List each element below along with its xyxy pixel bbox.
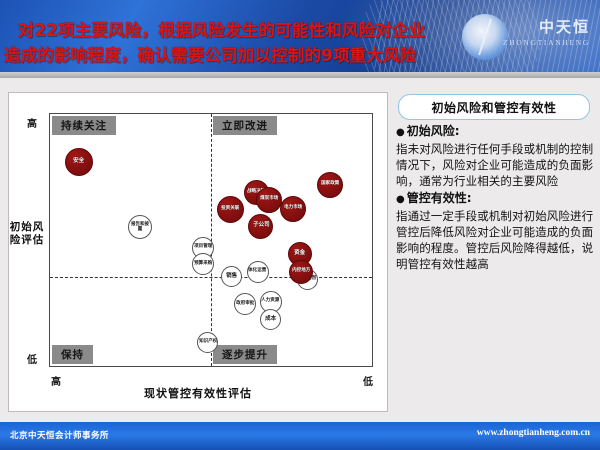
risk-bubble-label: 子公司 (253, 223, 269, 229)
risk-bubble-label: 体化运营 (249, 269, 267, 274)
side-panel-title: 初始风险和管控有效性 (398, 94, 590, 120)
y-axis-low-label: 低 (27, 351, 37, 366)
risk-bubble[interactable]: 电力市场 (280, 196, 306, 222)
side-explanation-panel: 初始风险和管控有效性 初始风险: 指未对风险进行任何手段或机制的控制情况下，风险… (392, 92, 596, 410)
footer-company-name: 北京中天恒会计师事务所 (10, 429, 109, 441)
quadrant-label-bottom-right: 逐步提升 (213, 345, 277, 364)
risk-bubble-label: 国家政策 (321, 182, 339, 187)
header-divider (0, 72, 600, 78)
footer-website[interactable]: www.zhongtianheng.com.cn (477, 428, 590, 438)
slide-footer: 北京中天恒会计师事务所 www.zhongtianheng.com.cn (0, 422, 600, 450)
risk-bubble-label: 安全 (73, 159, 84, 165)
risk-bubble[interactable]: 煤炭市场 (256, 187, 282, 213)
risk-bubble[interactable]: 成本 (260, 309, 281, 330)
risk-bubble-label: 报告和披露 (129, 223, 151, 232)
slide-title: 对22项主要风险，根据风险发生的可能性和风险对企业 造成的影响程度，确认需要公司… (18, 18, 583, 68)
y-axis-high-label: 高 (27, 115, 37, 130)
quadrant-label-top-left: 持续关注 (52, 116, 116, 135)
quadrant-label-bottom-left: 保持 (52, 345, 93, 364)
side-panel-item2-heading: 管控有效性: (396, 190, 594, 208)
slide-title-line-2: 造成的影响程度，确认需要公司加以控制的9项重大风险 (4, 43, 583, 68)
side-panel-body: 初始风险: 指未对风险进行任何手段或机制的控制情况下，风险对企业可能造成的负面影… (396, 122, 594, 273)
risk-matrix-panel: 高 低 初始风险评估 高 低 现状管控有效性评估 持续关注 立即改进 保持 逐步… (8, 92, 388, 412)
slide-title-line-1: 对22项主要风险，根据风险发生的可能性和风险对企业 (18, 21, 425, 40)
risk-bubble-label: 知识产权 (199, 340, 217, 345)
risk-matrix-plot-area: 持续关注 立即改进 保持 逐步提升 报告和披露项目管理预算采购销售体化运营政策自… (49, 113, 373, 367)
risk-bubble-label: 资金 (294, 251, 305, 257)
side-panel-item2-text: 指通过一定手段或机制对初始风险进行管控后降低风险对企业可能造成的负面影响的程度。… (396, 208, 594, 272)
quadrant-label-top-right: 立即改进 (213, 116, 277, 135)
risk-bubble[interactable]: 销售 (221, 266, 242, 287)
risk-bubble[interactable]: 内控地方 (289, 260, 313, 284)
risk-bubble-label: 煤炭市场 (260, 197, 278, 202)
risk-bubble-label: 政府审批 (236, 302, 254, 307)
side-panel-item1-text: 指未对风险进行任何手段或机制的控制情况下，风险对企业可能造成的负面影响，通常为行… (396, 141, 594, 189)
risk-bubble-label: 内控地方 (292, 269, 310, 274)
risk-bubble[interactable]: 知识产权 (197, 332, 218, 353)
side-panel-item1-heading: 初始风险: (396, 123, 594, 141)
risk-bubble-label: 预算采购 (194, 262, 212, 267)
risk-bubble[interactable]: 报告和披露 (128, 215, 152, 239)
risk-bubble[interactable]: 政府审批 (234, 293, 256, 315)
risk-bubble[interactable]: 国家政策 (317, 172, 343, 198)
risk-bubble[interactable]: 体化运营 (247, 261, 269, 283)
x-axis-title: 现状管控有效性评估 (9, 385, 387, 401)
risk-bubble-label: 项目管理 (194, 245, 212, 250)
slide-header: 中天恒 ZHONGTIANHENG 对22项主要风险，根据风险发生的可能性和风险… (0, 0, 600, 78)
risk-bubble-label: 人力资源 (262, 299, 280, 304)
risk-bubble-label: 成本 (265, 317, 276, 323)
slide-root: 中天恒 ZHONGTIANHENG 对22项主要风险，根据风险发生的可能性和风险… (0, 0, 600, 450)
horizontal-divider (50, 277, 372, 278)
risk-bubble[interactable]: 安全 (65, 148, 93, 176)
risk-bubble[interactable]: 子公司 (248, 214, 273, 239)
risk-bubble-label: 电力市场 (284, 206, 302, 211)
risk-bubble-label: 投资关联 (221, 207, 239, 212)
risk-bubble[interactable]: 预算采购 (192, 253, 214, 275)
risk-bubble-label: 销售 (226, 274, 237, 280)
risk-bubble[interactable]: 投资关联 (217, 196, 244, 223)
y-axis-title: 初始风险评估 (5, 221, 49, 247)
